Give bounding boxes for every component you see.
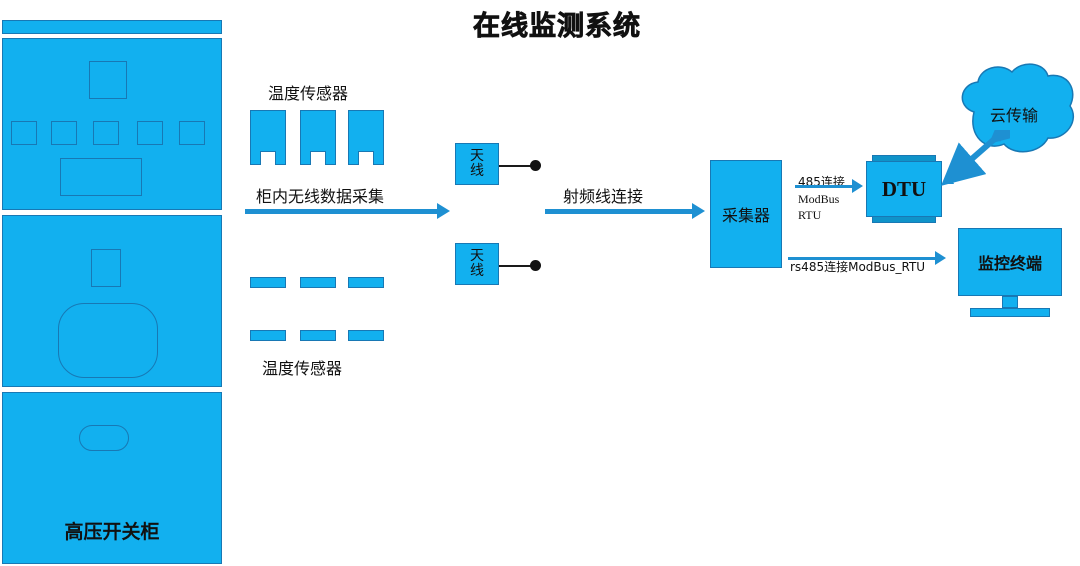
sensor-leg-right bbox=[275, 151, 286, 165]
sensor-body bbox=[300, 110, 336, 152]
sensor-leg-right bbox=[325, 151, 336, 165]
arrow-shaft bbox=[795, 185, 852, 188]
arrow-dtu-cloud-bidirectional bbox=[940, 130, 1010, 186]
antenna-label-1: 天线 bbox=[469, 149, 486, 179]
temperature-sensor-bar-2 bbox=[300, 277, 336, 288]
monitor-screen: 监控终端 bbox=[958, 228, 1062, 296]
page-title: 在线监测系统 bbox=[447, 4, 667, 43]
sensor-body bbox=[348, 110, 384, 152]
double-arrow-icon bbox=[940, 130, 1010, 186]
cabinet-section-top bbox=[2, 38, 222, 210]
rs485-label-line3: RTU bbox=[798, 208, 821, 223]
dtu-body: DTU bbox=[866, 161, 942, 217]
antenna-box-1[interactable]: 天线 bbox=[455, 143, 499, 185]
cabinet-mid-rect bbox=[91, 249, 121, 287]
sensor-leg-left bbox=[250, 151, 261, 165]
temperature-sensor-bar-4 bbox=[250, 330, 286, 341]
cabinet-bottom-pill bbox=[79, 425, 129, 451]
dtu-bottom-edge bbox=[872, 216, 936, 223]
cabinet-indicator-4 bbox=[137, 121, 163, 145]
cabinet-meter-square bbox=[89, 61, 127, 99]
cloud-label: 云传输 bbox=[948, 102, 1080, 126]
arrow-head bbox=[935, 251, 946, 265]
diagram-canvas: 在线监测系统 高压开关柜 温度传感器 温度传感器 bbox=[0, 0, 1080, 566]
cabinet-mid-rounded bbox=[58, 303, 158, 378]
antenna-label-2: 天线 bbox=[469, 249, 486, 279]
cabinet-section-middle bbox=[2, 215, 222, 387]
cabinet-indicator-5 bbox=[179, 121, 205, 145]
arrow-wireless-collect bbox=[245, 203, 450, 219]
monitor-stand-neck bbox=[1002, 296, 1018, 308]
arrow-shaft bbox=[545, 209, 692, 214]
temperature-sensor-bar-6 bbox=[348, 330, 384, 341]
dtu-label: DTU bbox=[882, 177, 926, 202]
sensor-leg-left bbox=[300, 151, 311, 165]
cabinet-label: 高压开关柜 bbox=[3, 517, 221, 544]
cabinet-section-bottom: 高压开关柜 bbox=[2, 392, 222, 564]
antenna-wire-1 bbox=[499, 165, 534, 167]
cabinet-top-strip bbox=[2, 20, 222, 34]
temperature-sensor-1 bbox=[250, 110, 286, 165]
antenna-wire-2 bbox=[499, 265, 534, 267]
rs485-modbus-label: rs485连接ModBus_RTU bbox=[790, 258, 925, 275]
temperature-sensor-label-top: 温度传感器 bbox=[268, 80, 348, 104]
monitor-stand-base bbox=[970, 308, 1050, 317]
monitor-label: 监控终端 bbox=[978, 250, 1042, 274]
cabinet-indicator-1 bbox=[11, 121, 37, 145]
cabinet-indicator-2 bbox=[51, 121, 77, 145]
arrow-head bbox=[852, 179, 863, 193]
cabinet-display-panel bbox=[60, 158, 142, 196]
antenna-tip-1 bbox=[530, 160, 541, 171]
antenna-box-2[interactable]: 天线 bbox=[455, 243, 499, 285]
arrow-head bbox=[437, 203, 450, 219]
temperature-sensor-3 bbox=[348, 110, 384, 165]
temperature-sensor-bar-1 bbox=[250, 277, 286, 288]
dtu-device[interactable]: DTU bbox=[866, 155, 942, 223]
collector-label: 采集器 bbox=[722, 202, 770, 226]
monitor-terminal[interactable]: 监控终端 bbox=[958, 228, 1062, 320]
collector-box[interactable]: 采集器 bbox=[710, 160, 782, 268]
arrow-shaft bbox=[245, 209, 437, 214]
sensor-leg-left bbox=[348, 151, 359, 165]
temperature-sensor-bar-5 bbox=[300, 330, 336, 341]
arrow-head bbox=[692, 203, 705, 219]
temperature-sensor-bar-3 bbox=[348, 277, 384, 288]
temperature-sensor-label-bottom: 温度传感器 bbox=[262, 355, 342, 379]
rs485-label-line2: ModBus bbox=[798, 192, 839, 207]
cabinet-indicator-3 bbox=[93, 121, 119, 145]
temperature-sensor-2 bbox=[300, 110, 336, 165]
sensor-leg-right bbox=[373, 151, 384, 165]
antenna-tip-2 bbox=[530, 260, 541, 271]
arrow-rf-cable bbox=[545, 203, 705, 219]
sensor-body bbox=[250, 110, 286, 152]
